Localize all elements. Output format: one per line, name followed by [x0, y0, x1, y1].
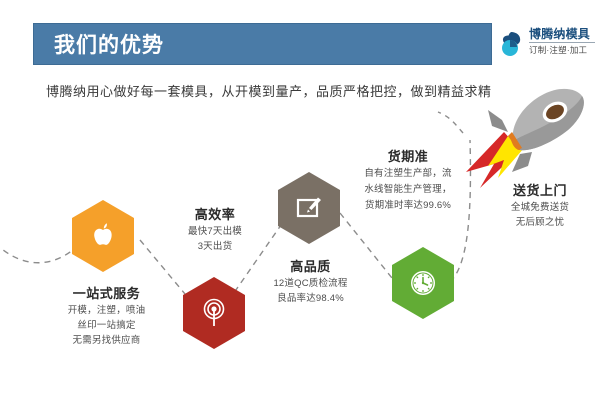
- node-line: 无后顾之忧: [490, 215, 590, 230]
- node-text-high-efficiency: 高效率 最快7天出模 3天出货: [155, 206, 275, 254]
- apple-icon: [90, 222, 116, 250]
- rocket-icon: [458, 80, 588, 195]
- header-subtitle: 博腾纳用心做好每一套模具，从开模到量产，品质严格把控，做到精益求精: [46, 81, 492, 100]
- node-title: 高效率: [155, 206, 275, 224]
- node-line: 最快7天出模: [155, 224, 275, 239]
- infographic-canvas: 我们的优势 博腾纳模具 订制·注塑·加工 博腾纳用心做好每一套模具，从开模到量产…: [0, 0, 600, 400]
- target-icon: [200, 298, 228, 328]
- logo-mark-icon: [497, 29, 527, 59]
- logo-tagline: 订制·注塑·加工: [529, 42, 595, 56]
- node-title: 送货上门: [490, 182, 590, 200]
- node-line: 丝印一站搞定: [44, 318, 169, 333]
- node-line: 12道QC质检流程: [253, 276, 368, 291]
- node-text-on-time-delivery: 货期准 自有注塑生产部，流 水线智能生产管理， 货期准时率达99.6%: [348, 148, 468, 214]
- logo-company-name: 博腾纳模具: [529, 27, 595, 42]
- node-line: 全城免费送货: [490, 200, 590, 215]
- node-icon-high-quality: [278, 172, 340, 244]
- node-line: 3天出货: [155, 239, 275, 254]
- node-text-door-delivery: 送货上门 全城免费送货 无后顾之忧: [490, 182, 590, 230]
- node-title: 高品质: [253, 258, 368, 276]
- page-title: 我们的优势: [54, 29, 164, 59]
- company-logo: 博腾纳模具 订制·注塑·加工: [497, 27, 595, 63]
- node-text-one-stop-service: 一站式服务 开模，注塑，喷油 丝印一站搞定 无需另找供应商: [44, 285, 169, 348]
- node-line: 自有注塑生产部，流: [348, 166, 468, 182]
- node-text-high-quality: 高品质 12道QC质检流程 良品率达98.4%: [253, 258, 368, 306]
- node-line: 水线智能生产管理，: [348, 182, 468, 198]
- edit-board-icon: [295, 194, 323, 222]
- node-icon-high-efficiency: [183, 277, 245, 349]
- node-icon-one-stop-service: [72, 200, 134, 272]
- node-line: 无需另找供应商: [44, 333, 169, 348]
- node-line: 良品率达98.4%: [253, 291, 368, 306]
- node-title: 货期准: [348, 148, 468, 166]
- header-banner: 我们的优势: [33, 23, 492, 65]
- clock-icon: [409, 269, 437, 297]
- node-title: 一站式服务: [44, 285, 169, 303]
- node-line: 开模，注塑，喷油: [44, 303, 169, 318]
- node-icon-on-time-delivery: [392, 247, 454, 319]
- node-line: 货期准时率达99.6%: [348, 198, 468, 214]
